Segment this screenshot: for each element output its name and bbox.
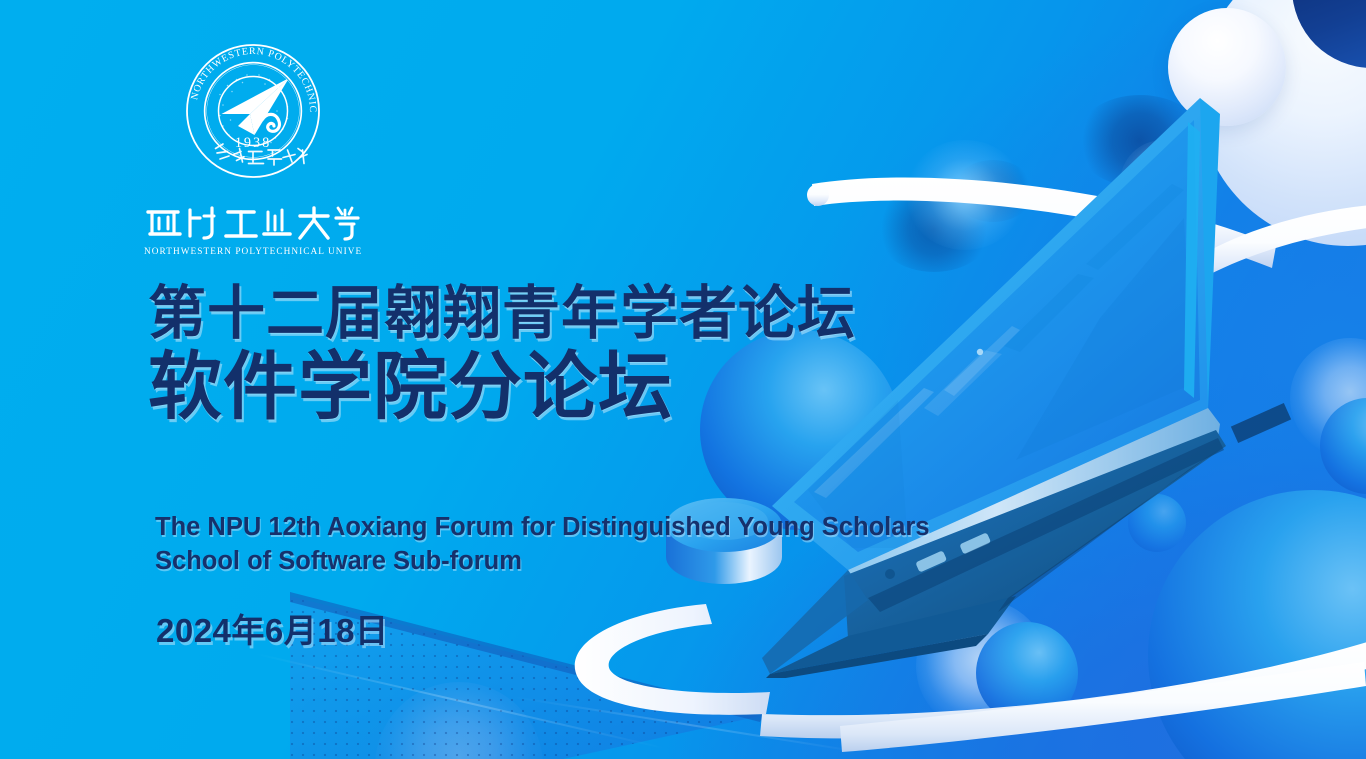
wordmark-en-text: NORTHWESTERN POLYTECHNICAL UNIVERSITY (144, 247, 362, 257)
title-block: 第十二届翱翔青年学者论坛 软件学院分论坛 (148, 284, 856, 425)
subtitle-line-1: The NPU 12th Aoxiang Forum for Distingui… (155, 513, 930, 541)
event-date: 2024年6月18日 (156, 604, 388, 652)
npu-wordmark: NORTHWESTERN POLYTECHNICAL UNIVERSITY (142, 200, 398, 262)
subtitle-en: The NPU 12th Aoxiang Forum for Distingui… (155, 510, 930, 579)
title-line-2: 软件学院分论坛 (148, 349, 856, 424)
brand-block: NORTHWESTERN POLYTECHNICAL UNIVERSITY (138, 36, 398, 262)
subtitle-line-2: School of Software Sub-forum (155, 544, 930, 578)
title-line-1: 第十二届翱翔青年学者论坛 (148, 284, 856, 343)
npu-university-seal-icon: NORTHWESTERN POLYTECHNICAL UNIVERSITY (178, 36, 328, 186)
banner-content: NORTHWESTERN POLYTECHNICAL UNIVERSITY (0, 0, 1366, 759)
conference-banner: NORTHWESTERN POLYTECHNICAL UNIVERSITY (0, 0, 1366, 759)
